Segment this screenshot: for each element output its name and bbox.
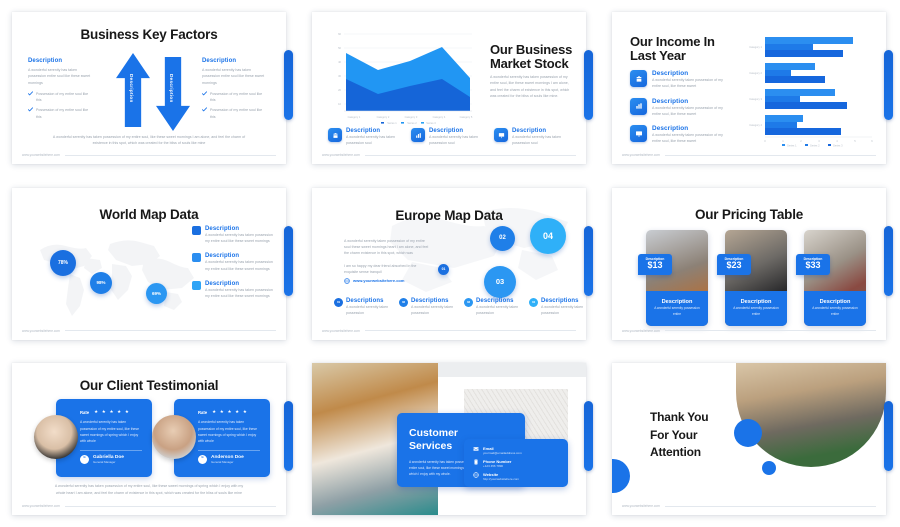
page-title: World Map Data	[12, 207, 286, 223]
slide-world-map-data[interactable]: World Map Data 78% 98% 69%	[12, 188, 286, 340]
svg-text:Series 1: Series 1	[787, 144, 797, 148]
bar-chart-legend: Series 1 Series 2 Series 3	[782, 142, 852, 149]
slide-footer: www.yourwebsitehere.com	[322, 329, 576, 333]
slide-our-client-testimonial[interactable]: Our Client Testimonial Rate ★ ★ ★ ★ ★ A …	[12, 363, 286, 515]
footer-url: www.yourwebsitehere.com	[22, 153, 60, 157]
svg-text:Category 4: Category 4	[433, 115, 446, 119]
description-item[interactable]: Description A wonderful serenity has tak…	[192, 226, 276, 245]
feature-item[interactable]: Description A wonderful serenity has tak…	[494, 128, 568, 147]
rating-row: Rate ★ ★ ★ ★ ★	[80, 409, 142, 415]
contact-item[interactable]: Email yourmail@emailaddress.com	[473, 446, 522, 455]
description-paragraph: A wonderful serenity has taken possessio…	[202, 67, 268, 86]
page-title-line2: Market Stock	[490, 56, 582, 72]
slide-cell-6: Our Pricing Table Description A wonderfu…	[600, 176, 900, 352]
area-chart: 6050 4030 2010 Category 1Category 2 Cate…	[326, 26, 476, 126]
footer-rule	[665, 155, 876, 156]
feature-heading: Description	[652, 125, 732, 132]
pricing-badge: Description $13	[638, 254, 672, 275]
check-icon	[28, 91, 33, 96]
pricing-card[interactable]: Description A wonderful serenity possess…	[725, 230, 787, 326]
description-paragraph: A wonderful serenity has taken possessio…	[28, 67, 94, 86]
svg-text:Series 3: Series 3	[833, 144, 843, 148]
left-description-block: Description A wonderful serenity has tak…	[28, 58, 94, 120]
side-tab-accent	[884, 401, 893, 471]
contact-value: http://yourwebsitehere.com	[483, 477, 519, 481]
contact-item[interactable]: Website http://yourwebsitehere.com	[473, 472, 522, 481]
pricing-badge-price: $13	[638, 261, 672, 271]
svg-text:Category 2: Category 2	[377, 115, 390, 119]
feature-text: A wonderful serenity has taken possessio…	[346, 134, 402, 147]
footer-rule	[665, 506, 876, 507]
feature-list: Description A wonderful serenity taken p…	[630, 70, 732, 145]
globe-icon	[473, 472, 479, 478]
feature-item[interactable]: Description A wonderful serenity has tak…	[411, 128, 485, 147]
description-text: A wonderful serenity has taken possessio…	[205, 232, 276, 245]
page-title-line1: Thank You	[650, 409, 708, 426]
footer-url: www.yourwebsitehere.com	[22, 504, 60, 508]
slide-business-key-factors[interactable]: Business Key Factors Description A wonde…	[12, 12, 286, 164]
feature-text: A wonderful serenity has taken possessio…	[512, 134, 568, 147]
slide-footer: www.yourwebsitehere.com	[622, 504, 876, 508]
svg-text:10: 10	[338, 102, 341, 106]
chart-bar-icon	[630, 98, 647, 115]
star-rating-icon: ★ ★ ★ ★ ★	[212, 409, 248, 415]
map-number-badge-04[interactable]: 04	[530, 218, 566, 254]
slide-cell-8: Customer Services A wonderful serenity h…	[300, 351, 600, 527]
number-badge: 04	[529, 298, 538, 307]
feature-text: A wonderful serenity has taken possessio…	[429, 134, 485, 147]
feature-heading: Description	[652, 98, 732, 105]
pricing-heading: Description	[662, 299, 693, 305]
page-title: Our Pricing Table	[612, 207, 886, 223]
svg-text:Category 1: Category 1	[348, 115, 361, 119]
svg-text:30: 30	[338, 74, 341, 78]
page-title-line2: For Your	[650, 427, 708, 444]
bullet-text: Possession of my entire soul like this	[36, 91, 94, 104]
description-text: A wonderful serenity has taken possessio…	[205, 259, 276, 272]
briefcase-icon	[630, 70, 647, 87]
svg-text:Category 3: Category 3	[405, 115, 418, 119]
svg-text:5: 5	[854, 139, 856, 143]
map-number-badge-02[interactable]: 02	[490, 226, 515, 251]
bullet-item: Possession of my entire soul like this	[202, 107, 268, 120]
website-link-text: www.yourwebsitehere.com	[353, 278, 404, 283]
pricing-card[interactable]: Description A wonderful serenity possess…	[804, 230, 866, 326]
arrow-up-label: Description	[129, 74, 134, 103]
map-marker-label: 69%	[152, 291, 161, 296]
briefcase-icon	[328, 128, 342, 142]
testimonial-role: General Manager	[211, 460, 244, 464]
right-description-block: Description A wonderful serenity has tak…	[202, 58, 268, 120]
footer-url: www.yourwebsitehere.com	[622, 504, 660, 508]
slide-cell-3: Our Income In Last Year Description A wo…	[600, 0, 900, 176]
map-number-badge-03[interactable]: 03	[484, 266, 516, 298]
feature-text: A wonderful serenity taken possession of…	[652, 77, 732, 90]
footer-rule	[365, 155, 576, 156]
svg-text:Series 2: Series 2	[407, 121, 417, 125]
pricing-badge-price: $23	[717, 261, 751, 271]
slide-business-market-stock[interactable]: 6050 4030 2010 Category 1Category 2 Cate…	[312, 12, 586, 164]
slide-our-pricing-table[interactable]: Our Pricing Table Description A wonderfu…	[612, 188, 886, 340]
page-paragraph-2: I am so happy my dear friend absorbed in…	[344, 263, 426, 276]
description-list: Description A wonderful serenity has tak…	[192, 226, 276, 300]
number-badge: 03	[464, 298, 473, 307]
description-item[interactable]: 01 Descriptions A wonderful serenity tak…	[334, 298, 390, 317]
side-tab-accent	[284, 401, 293, 471]
pricing-card[interactable]: Description A wonderful serenity possess…	[646, 230, 708, 326]
description-text: A wonderful serenity taken possession	[411, 304, 455, 317]
presentation-icon	[630, 125, 647, 142]
description-heading: Descriptions	[346, 298, 390, 304]
description-item[interactable]: Description A wonderful serenity has tak…	[192, 253, 276, 272]
bullet-text: Possession of my entire soul like this	[210, 107, 268, 120]
bullet-text: Possession of my entire soul like this	[210, 91, 268, 104]
quote-icon: “	[80, 455, 89, 464]
quote-icon: “	[198, 455, 207, 464]
pricing-card-body: Description A wonderful serenity possess…	[646, 291, 708, 326]
star-rating-icon: ★ ★ ★ ★ ★	[94, 409, 130, 415]
pricing-card-body: Description A wonderful serenity possess…	[725, 291, 787, 326]
page-title: Our Client Testimonial	[12, 378, 286, 394]
svg-text:6: 6	[871, 139, 873, 143]
description-heading: Description	[202, 58, 268, 64]
slide-footnote: A wonderful serenity has taken possessio…	[52, 134, 246, 147]
description-item[interactable]: 02 Descriptions A wonderful serenity tak…	[399, 298, 455, 317]
pricing-badge: Description $33	[796, 254, 830, 275]
phone-icon	[473, 459, 479, 465]
decor-circle-large-left	[612, 459, 630, 493]
check-icon	[202, 107, 207, 112]
svg-text:Series 3: Series 3	[426, 121, 436, 125]
footer-url: www.yourwebsitehere.com	[22, 329, 60, 333]
description-item[interactable]: 04 Descriptions A wonderful serenity tak…	[529, 298, 585, 317]
page-title-line3: Attention	[650, 444, 708, 461]
map-marker[interactable]: 98%	[90, 272, 112, 294]
pricing-heading: Description	[741, 299, 772, 305]
description-heading: Descriptions	[541, 298, 585, 304]
description-item[interactable]: Description A wonderful serenity has tak…	[192, 281, 276, 300]
feature-item[interactable]: Description A wonderful serenity taken p…	[630, 98, 732, 118]
feature-list: Description A wonderful serenity has tak…	[328, 128, 568, 147]
avatar	[152, 415, 196, 459]
slide-footer: www.yourwebsitehere.com	[22, 504, 276, 508]
testimonial-name: Anderson Doe	[211, 455, 244, 460]
map-marker-label: 98%	[96, 280, 105, 285]
description-heading: Description	[28, 58, 94, 64]
pricing-text: A wonderful serenity possession entire	[809, 306, 861, 317]
contact-value: yourmail@emailaddress.com	[483, 451, 522, 455]
svg-text:Category 4: Category 4	[749, 123, 762, 127]
feature-item[interactable]: Description A wonderful serenity taken p…	[630, 70, 732, 90]
chart-bar-icon	[411, 128, 425, 142]
side-tab-accent	[584, 401, 593, 471]
bullet-item: Possession of my entire soul like this	[202, 91, 268, 104]
page-paragraph: A wonderful serenity has taken possessio…	[490, 74, 574, 99]
number-badge: 02	[399, 298, 408, 307]
description-text: A wonderful serenity taken possession	[541, 304, 585, 317]
world-map-graphic	[26, 230, 206, 322]
rate-label: Rate	[198, 410, 207, 415]
map-marker[interactable]: 78%	[50, 250, 76, 276]
contact-item[interactable]: Phone Number +123 456 7890	[473, 459, 522, 468]
svg-text:Series 2: Series 2	[810, 144, 820, 148]
svg-text:40: 40	[338, 60, 341, 64]
presentation-icon	[494, 128, 508, 142]
pricing-text: A wonderful serenity possession entire	[730, 306, 782, 317]
check-icon	[28, 107, 33, 112]
svg-text:60: 60	[338, 32, 341, 36]
bullet-text: Possession of my entire soul like this	[36, 107, 94, 120]
map-marker[interactable]: 69%	[146, 283, 167, 304]
svg-text:Category 3: Category 3	[749, 97, 762, 101]
map-marker-label: 78%	[58, 260, 68, 266]
website-link[interactable]: www.yourwebsitehere.com	[344, 278, 404, 284]
contact-value: +123 456 7890	[483, 464, 511, 468]
panel-title-line1: Customer	[409, 427, 483, 440]
contact-panel: Email yourmail@emailaddress.com Phone Nu…	[464, 439, 568, 487]
divider	[80, 450, 142, 451]
description-text: A wonderful serenity taken possession	[346, 304, 390, 317]
decor-circle-small	[762, 461, 776, 475]
pricing-card-body: Description A wonderful serenity possess…	[804, 291, 866, 326]
rating-row: Rate ★ ★ ★ ★ ★	[198, 409, 260, 415]
slide-footer: www.yourwebsitehere.com	[622, 153, 876, 157]
number-badge: 01	[334, 298, 343, 307]
slide-thank-you[interactable]: Thank You For Your Attention www.yourweb…	[612, 363, 886, 515]
pricing-badge-price: $33	[796, 261, 830, 271]
footer-rule	[365, 330, 576, 331]
divider	[198, 450, 260, 451]
bullet-item: Possession of my entire soul like this	[28, 91, 94, 104]
footer-rule	[65, 155, 276, 156]
footer-url: www.yourwebsitehere.com	[622, 153, 660, 157]
horizontal-bar-chart: Category 1 Category 2 Category 3 Categor…	[740, 30, 880, 145]
description-heading: Descriptions	[411, 298, 455, 304]
description-text: A wonderful serenity has taken possessio…	[205, 287, 276, 300]
slide-cell-7: Our Client Testimonial Rate ★ ★ ★ ★ ★ A …	[0, 351, 300, 527]
rate-label: Rate	[80, 410, 89, 415]
map-number-badge-01[interactable]: 01	[438, 264, 449, 275]
slide-cell-2: 6050 4030 2010 Category 1Category 2 Cate…	[300, 0, 600, 176]
footer-rule	[665, 330, 876, 331]
check-icon	[202, 91, 207, 96]
svg-text:Category 2: Category 2	[749, 71, 762, 75]
feature-heading: Description	[652, 70, 732, 77]
svg-text:Category 5: Category 5	[460, 115, 473, 119]
photo-top-strip	[438, 363, 586, 377]
mail-icon	[473, 446, 479, 452]
slide-footer: www.yourwebsitehere.com	[622, 329, 876, 333]
page-paragraph-1: A wonderful serenity taken possession of…	[344, 238, 430, 257]
side-tab-accent	[584, 50, 593, 120]
slide-cell-5: Europe Map Data A wonderful serenity tak…	[300, 176, 600, 352]
avatar	[34, 415, 78, 459]
feature-text: A wonderful serenity taken possession of…	[652, 132, 732, 145]
footer-url: www.yourwebsitehere.com	[622, 329, 660, 333]
slide-cell-9: Thank You For Your Attention www.yourweb…	[600, 351, 900, 527]
feature-text: A wonderful serenity taken possession of…	[652, 105, 732, 118]
page-title: Business Key Factors	[12, 27, 286, 43]
description-item[interactable]: 03 Descriptions A wonderful serenity tak…	[464, 298, 520, 317]
descriptions-row: 01 Descriptions A wonderful serenity tak…	[334, 298, 585, 317]
bullet-item: Possession of my entire soul like this	[28, 107, 94, 120]
slide-footer: www.yourwebsitehere.com	[22, 329, 276, 333]
testimonial-quote: A wonderful serenity has taken possessio…	[80, 419, 142, 444]
svg-text:0: 0	[764, 139, 766, 143]
feature-item[interactable]: Description A wonderful serenity has tak…	[328, 128, 402, 147]
testimonial-quote: A wonderful serenity has taken possessio…	[198, 419, 260, 444]
slide-customer-services[interactable]: Customer Services A wonderful serenity h…	[312, 363, 586, 515]
slide-europe-map-data[interactable]: Europe Map Data A wonderful serenity tak…	[312, 188, 586, 340]
slide-footnote: A wonderful serenity has taken possessio…	[54, 483, 244, 496]
slide-deck-grid: Business Key Factors Description A wonde…	[0, 0, 900, 527]
square-marker-icon	[192, 281, 201, 290]
slide-footer: www.yourwebsitehere.com	[22, 153, 276, 157]
globe-icon	[344, 278, 350, 284]
side-tab-accent	[284, 226, 293, 296]
feature-item[interactable]: Description A wonderful serenity taken p…	[630, 125, 732, 145]
footer-url: www.yourwebsitehere.com	[322, 329, 360, 333]
pricing-text: A wonderful serenity possession entire	[651, 306, 703, 317]
side-tab-accent	[584, 226, 593, 296]
svg-text:Series 1: Series 1	[387, 121, 397, 125]
svg-text:20: 20	[338, 88, 341, 92]
description-heading: Descriptions	[476, 298, 520, 304]
slide-footer: www.yourwebsitehere.com	[322, 153, 576, 157]
slide-cell-1: Business Key Factors Description A wonde…	[0, 0, 300, 176]
page-title-line2: Last Year	[630, 48, 686, 64]
arrow-down-label: Description	[169, 74, 174, 103]
side-tab-accent	[884, 226, 893, 296]
pricing-badge: Description $23	[717, 254, 751, 275]
slide-cell-4: World Map Data 78% 98% 69%	[0, 176, 300, 352]
description-text: A wonderful serenity taken possession	[476, 304, 520, 317]
side-tab-accent	[284, 50, 293, 120]
testimonial-role: General Manager	[93, 460, 124, 464]
footer-rule	[65, 506, 276, 507]
slide-our-income-last-year[interactable]: Our Income In Last Year Description A wo…	[612, 12, 886, 164]
office-photo	[736, 363, 886, 467]
square-marker-icon	[192, 253, 201, 262]
footer-rule	[65, 330, 276, 331]
footer-url: www.yourwebsitehere.com	[322, 153, 360, 157]
square-marker-icon	[192, 226, 201, 235]
svg-text:50: 50	[338, 46, 341, 50]
svg-text:Category 1: Category 1	[749, 45, 762, 49]
testimonial-name: Gabriella Doe	[93, 455, 124, 460]
pricing-heading: Description	[820, 299, 851, 305]
side-tab-accent	[884, 50, 893, 120]
